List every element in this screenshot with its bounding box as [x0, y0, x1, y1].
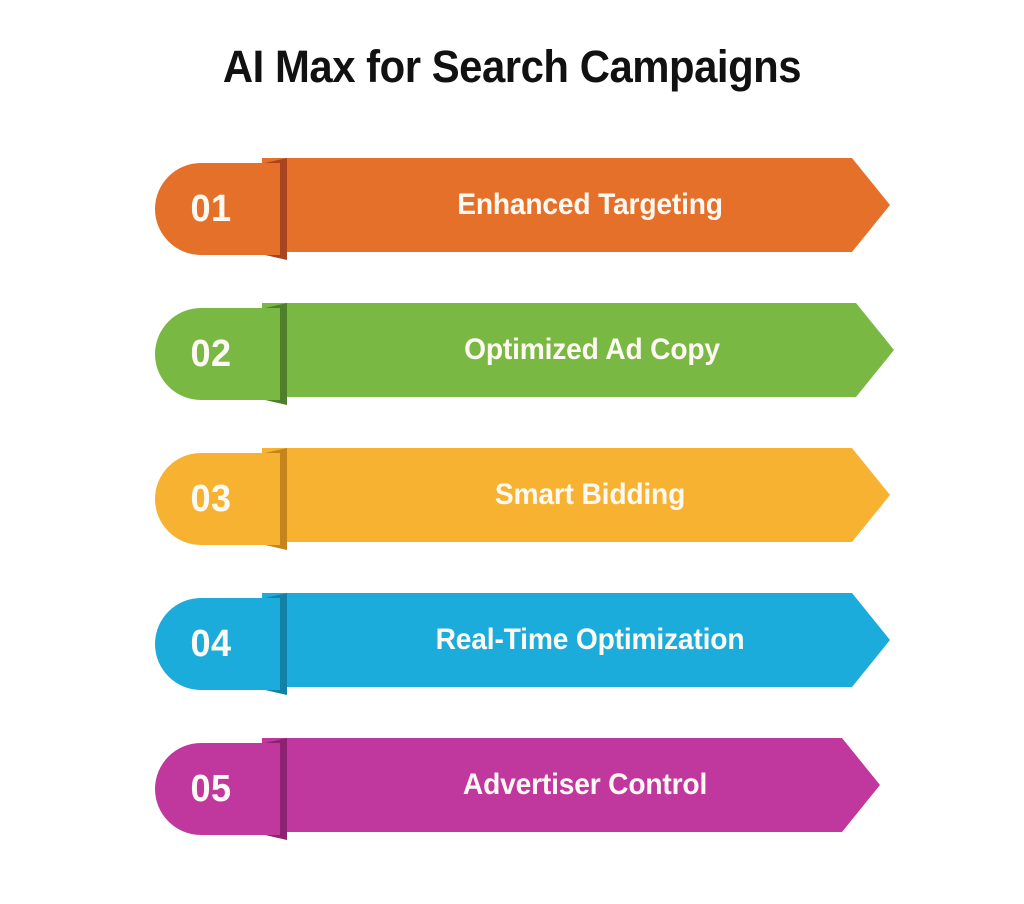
step-row[interactable]: 02Optimized Ad Copy: [0, 295, 1024, 405]
step-number-badge[interactable]: 05: [155, 743, 280, 835]
step-number-badge[interactable]: 02: [155, 308, 280, 400]
steps-list: 01Enhanced Targeting02Optimized Ad Copy0…: [0, 0, 1024, 904]
step-banner[interactable]: [262, 158, 890, 252]
step-number-badge[interactable]: 01: [155, 163, 280, 255]
step-number-badge[interactable]: 04: [155, 598, 280, 690]
step-banner[interactable]: [262, 738, 880, 832]
step-number-text: 04: [158, 598, 264, 690]
step-banner[interactable]: [262, 303, 894, 397]
step-row[interactable]: 04Real-Time Optimization: [0, 585, 1024, 695]
step-number-text: 01: [158, 163, 264, 255]
step-number-text: 02: [158, 308, 264, 400]
step-row[interactable]: 03Smart Bidding: [0, 440, 1024, 550]
step-banner[interactable]: [262, 448, 890, 542]
step-row[interactable]: 01Enhanced Targeting: [0, 150, 1024, 260]
step-row[interactable]: 05Advertiser Control: [0, 730, 1024, 840]
step-banner[interactable]: [262, 593, 890, 687]
step-number-text: 05: [158, 743, 264, 835]
step-number-text: 03: [158, 453, 264, 545]
step-number-badge[interactable]: 03: [155, 453, 280, 545]
infographic-page: AI Max for Search Campaigns 01Enhanced T…: [0, 0, 1024, 904]
